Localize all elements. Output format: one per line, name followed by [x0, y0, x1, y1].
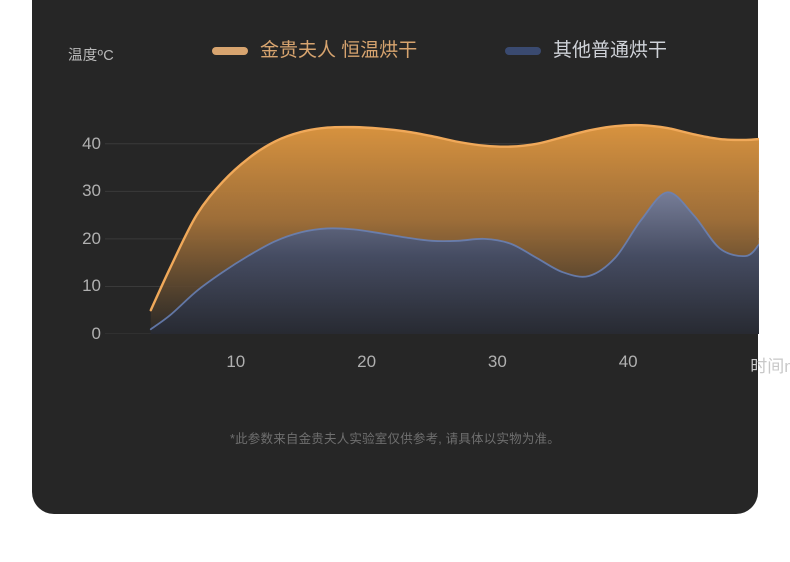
chart-plot-area — [105, 120, 759, 334]
legend-swatch-blue-icon — [505, 47, 541, 55]
x-tick-label: 20 — [357, 352, 376, 372]
chart-card: 温度ºC 金贵夫人 恒温烘干 其他普通烘干 010203040 — [32, 0, 758, 514]
x-axis-tick-labels: 10203040时间min — [105, 352, 785, 378]
y-tick-label: 0 — [57, 324, 101, 344]
chart-series-layer — [151, 125, 759, 334]
legend-label-gold: 金贵夫人 恒温烘干 — [260, 41, 417, 60]
x-axis-unit-label: 时间min — [750, 352, 790, 377]
legend-label-blue: 其他普通烘干 — [553, 41, 667, 60]
y-tick-label: 20 — [57, 229, 101, 249]
y-tick-label: 30 — [57, 181, 101, 201]
x-tick-label: 10 — [226, 352, 245, 372]
y-axis-unit-label: 温度ºC — [68, 44, 114, 65]
chart-footnote: *此参数来自金贵夫人实验室仅供参考, 请具体以实物为准。 — [32, 428, 758, 447]
area-chart-svg — [105, 120, 759, 334]
y-tick-label: 10 — [57, 276, 101, 296]
y-axis-tick-labels: 010203040 — [57, 120, 101, 334]
legend-item-gold[interactable]: 金贵夫人 恒温烘干 — [212, 41, 417, 60]
y-tick-label: 40 — [57, 134, 101, 154]
x-tick-label: 30 — [488, 352, 507, 372]
legend-item-blue[interactable]: 其他普通烘干 — [505, 41, 667, 60]
chart-header: 温度ºC 金贵夫人 恒温烘干 其他普通烘干 — [32, 36, 758, 74]
x-tick-label: 40 — [619, 352, 638, 372]
legend-swatch-gold-icon — [212, 47, 248, 55]
